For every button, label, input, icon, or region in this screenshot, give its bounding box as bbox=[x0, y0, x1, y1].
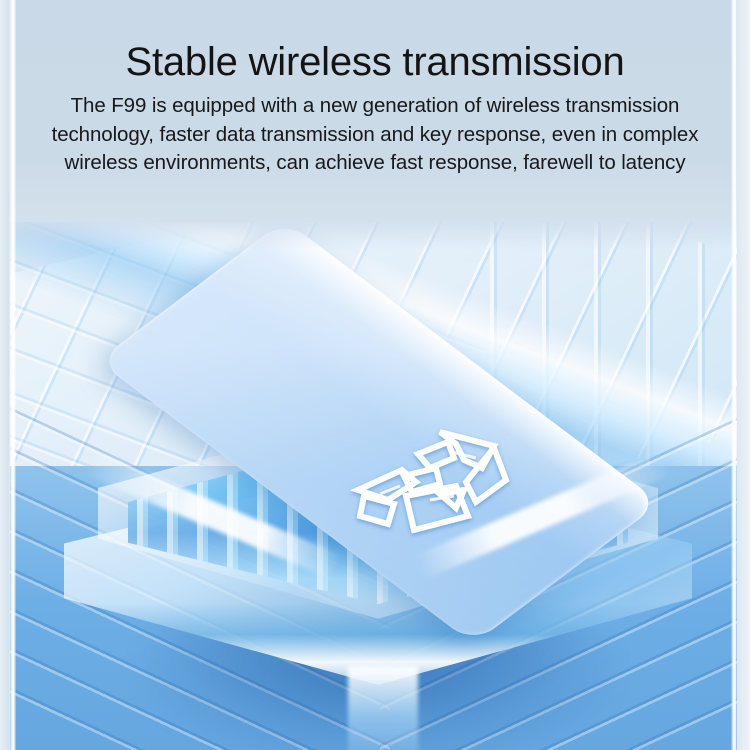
near-corner-highlight bbox=[348, 666, 418, 750]
product-module bbox=[58, 316, 698, 736]
product-poster: Stable wireless transmission The F99 is … bbox=[0, 0, 750, 750]
page-description: The F99 is equipped with a new generatio… bbox=[18, 92, 732, 178]
product-photo bbox=[0, 216, 750, 750]
right-edge-fade bbox=[737, 0, 750, 750]
angular-shield-emblem-icon bbox=[344, 424, 524, 542]
left-edge-fade bbox=[0, 0, 10, 750]
page-title: Stable wireless transmission bbox=[0, 38, 750, 86]
header-block: Stable wireless transmission The F99 is … bbox=[0, 0, 750, 222]
